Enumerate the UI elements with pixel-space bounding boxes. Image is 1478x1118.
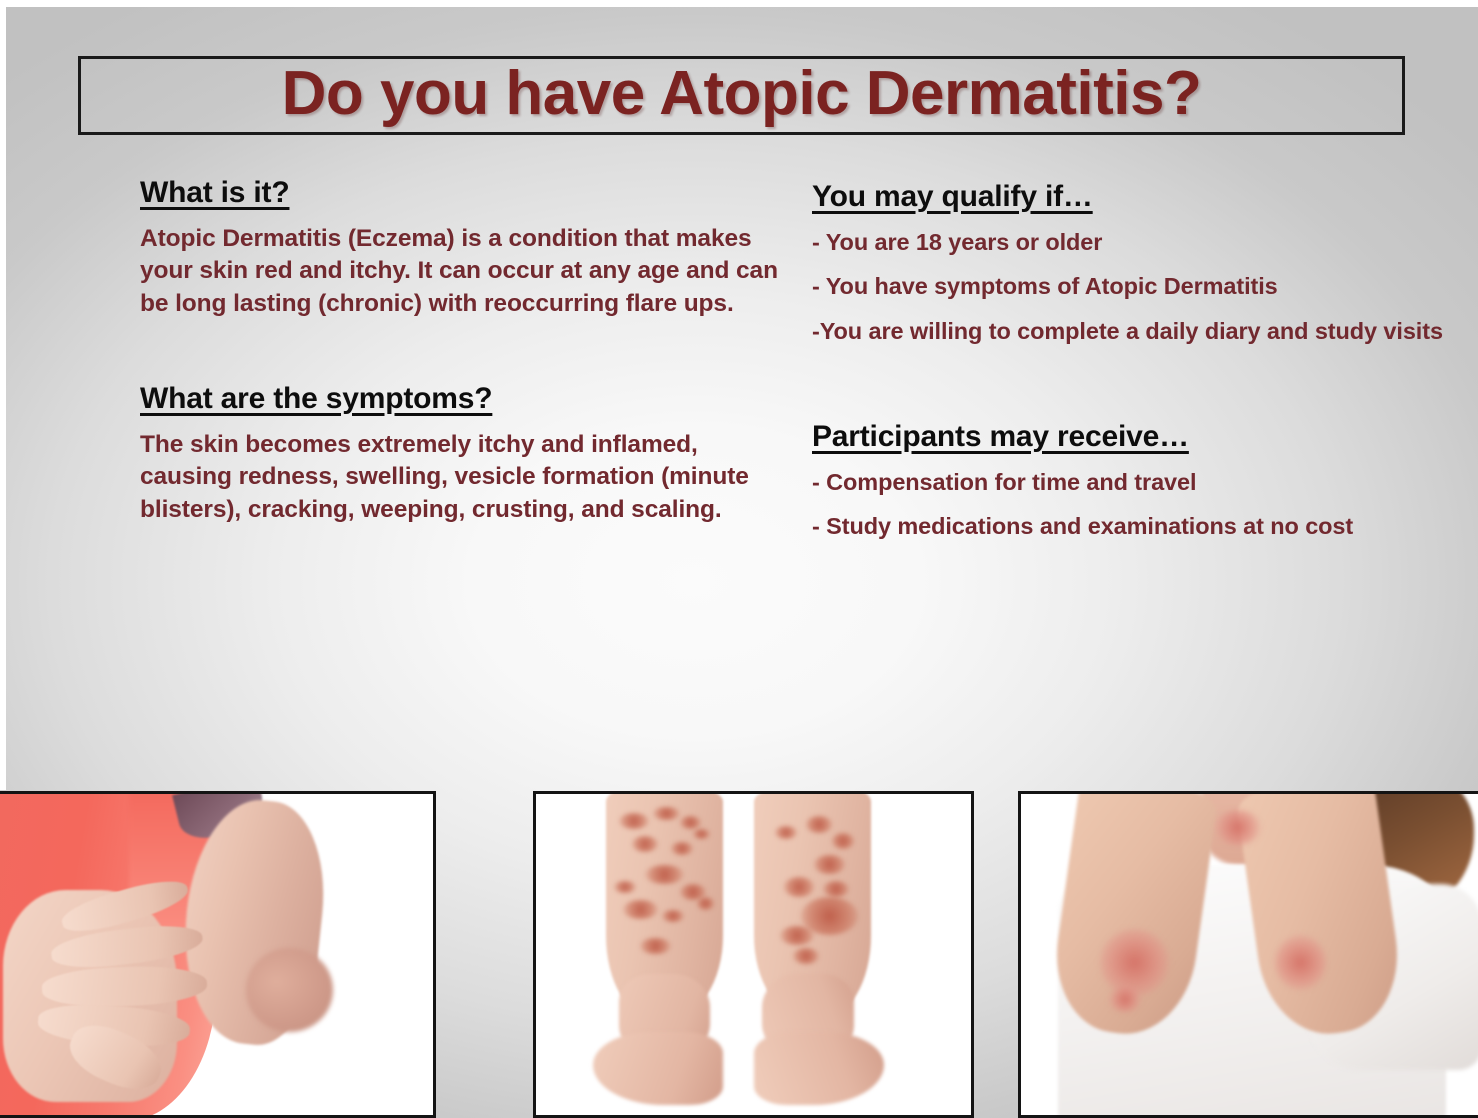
- eczema-patch: [1100, 929, 1169, 996]
- rash-spot: [784, 877, 814, 896]
- rash-spot: [823, 881, 849, 897]
- rash-spot: [653, 807, 679, 820]
- what-is-it-heading: What is it?: [140, 176, 790, 211]
- right-foot-shape: [754, 1032, 885, 1106]
- eczema-patch: [1275, 935, 1326, 990]
- rash-spot: [793, 948, 819, 964]
- list-item: - Compensation for time and travel: [812, 467, 1452, 498]
- photo-elbows-rash-image: [1021, 794, 1478, 1115]
- section-what-is-it: What is it? Atopic Dermatitis (Eczema) i…: [140, 176, 790, 320]
- slide-frame-top-edge: [0, 0, 1478, 7]
- poster-slide: Do you have Atopic Dermatitis? What is i…: [0, 0, 1478, 1118]
- list-item: - You have symptoms of Atopic Dermatitis: [812, 271, 1452, 302]
- symptoms-heading: What are the symptoms?: [140, 382, 790, 417]
- section-qualify: You may qualify if… - You are 18 years o…: [812, 180, 1452, 346]
- eczema-patch: [1109, 987, 1141, 1013]
- page-title: Do you have Atopic Dermatitis?: [282, 63, 1202, 129]
- receive-heading: Participants may receive…: [812, 420, 1452, 455]
- elbow-shape: [246, 948, 333, 1031]
- rash-spot: [662, 910, 684, 923]
- title-box: Do you have Atopic Dermatitis?: [78, 56, 1405, 135]
- rash-spot: [814, 855, 844, 874]
- section-receive: Participants may receive… - Compensation…: [812, 420, 1452, 542]
- what-is-it-body: Atopic Dermatitis (Eczema) is a conditio…: [140, 223, 790, 321]
- photo-arm-scratching: [0, 791, 436, 1118]
- rash-spot: [832, 833, 854, 849]
- list-item: - You are 18 years or older: [812, 227, 1452, 258]
- photo-legs-rash: [533, 791, 974, 1118]
- symptoms-body: The skin becomes extremely itchy and inf…: [140, 429, 790, 527]
- rash-spot: [780, 926, 815, 945]
- rash-spot: [671, 842, 693, 855]
- photo-legs-rash-image: [536, 794, 971, 1115]
- rash-spot: [806, 816, 832, 832]
- rash-spot: [632, 836, 658, 852]
- slide-frame-left-edge: [0, 0, 6, 790]
- rash-spot: [623, 900, 658, 919]
- photo-elbows-rash: [1018, 791, 1478, 1118]
- section-symptoms: What are the symptoms? The skin becomes …: [140, 382, 790, 526]
- rash-spot: [697, 897, 714, 910]
- receive-bullet-list: - Compensation for time and travel - Stu…: [812, 467, 1452, 542]
- left-column: What is it? Atopic Dermatitis (Eczema) i…: [140, 176, 790, 526]
- rash-spot: [775, 826, 797, 839]
- qualify-bullet-list: - You are 18 years or older - You have s…: [812, 227, 1452, 347]
- rash-spot: [645, 865, 684, 884]
- rash-spot: [693, 829, 710, 839]
- qualify-heading: You may qualify if…: [812, 180, 1452, 215]
- list-item: -You are willing to complete a daily dia…: [812, 316, 1452, 347]
- left-foot-shape: [593, 1032, 724, 1106]
- photo-arm-scratching-image: [0, 794, 433, 1115]
- list-item: - Study medications and examinations at …: [812, 511, 1452, 542]
- right-column: You may qualify if… - You are 18 years o…: [812, 180, 1452, 556]
